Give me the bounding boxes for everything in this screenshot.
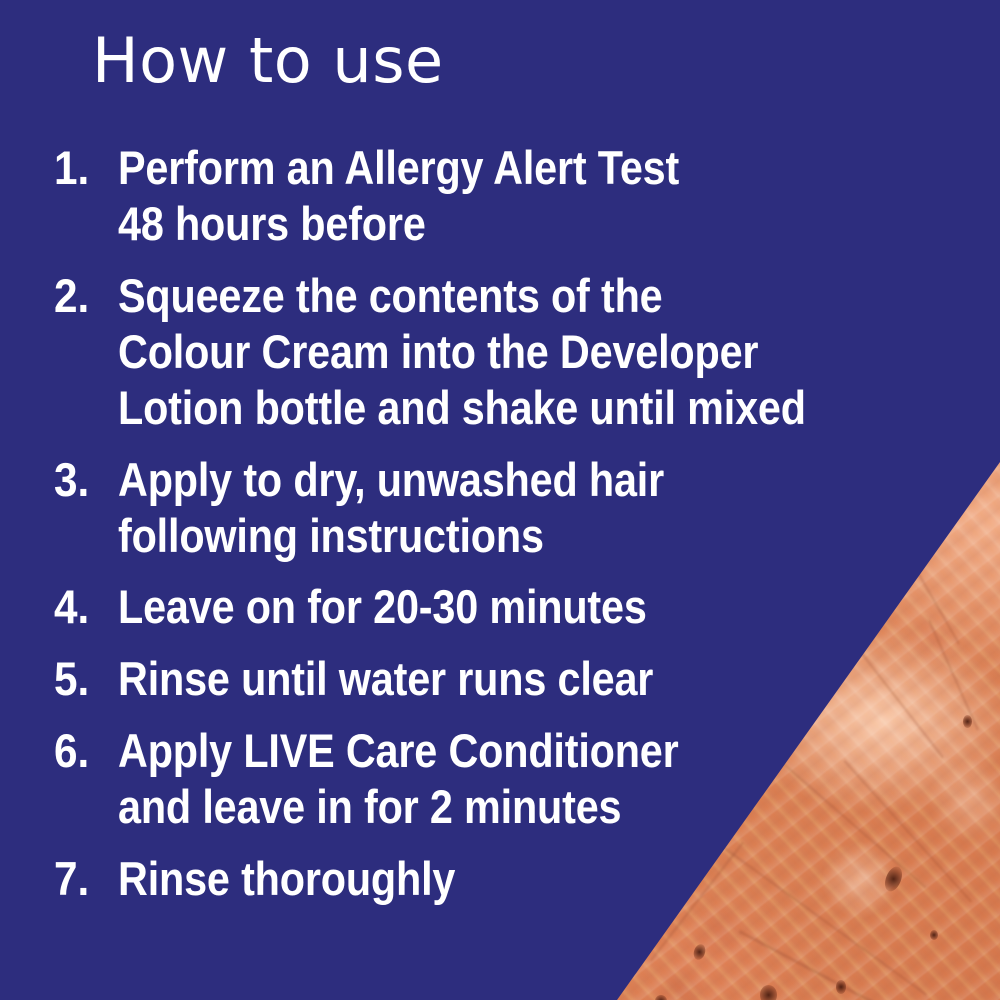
step-number: 6. xyxy=(54,723,112,779)
step-number: 7. xyxy=(54,851,112,907)
step-text: Leave on for 20-30 minutes xyxy=(118,579,894,635)
how-to-use-panel: How to use 1. Perform an Allergy Alert T… xyxy=(0,0,1000,1000)
list-item: 4. Leave on for 20-30 minutes xyxy=(0,579,1000,635)
list-item: 6. Apply LIVE Care Conditioner and leave… xyxy=(0,723,1000,835)
step-text: Apply LIVE Care Conditioner and leave in… xyxy=(118,723,894,835)
list-item: 3. Apply to dry, unwashed hair following… xyxy=(0,452,1000,564)
step-number: 4. xyxy=(54,579,112,635)
list-item: 5. Rinse until water runs clear xyxy=(0,651,1000,707)
page-title: How to use xyxy=(92,28,444,93)
step-number: 5. xyxy=(54,651,112,707)
list-item: 1. Perform an Allergy Alert Test 48 hour… xyxy=(0,140,1000,252)
step-text: Rinse thoroughly xyxy=(118,851,894,907)
skin-pore xyxy=(930,930,938,940)
step-text: Apply to dry, unwashed hair following in… xyxy=(118,452,894,564)
step-text: Rinse until water runs clear xyxy=(118,651,894,707)
step-text: Perform an Allergy Alert Test 48 hours b… xyxy=(118,140,894,252)
step-text: Squeeze the contents of the Colour Cream… xyxy=(118,268,894,436)
step-number: 2. xyxy=(54,268,112,324)
skin-pore xyxy=(655,995,667,1000)
skin-crease xyxy=(739,930,926,1000)
skin-pore xyxy=(692,943,707,962)
instruction-steps-list: 1. Perform an Allergy Alert Test 48 hour… xyxy=(0,140,1000,923)
list-item: 7. Rinse thoroughly xyxy=(0,851,1000,907)
skin-pore xyxy=(760,985,777,1000)
list-item: 2. Squeeze the contents of the Colour Cr… xyxy=(0,268,1000,436)
skin-pore xyxy=(836,980,846,994)
step-number: 1. xyxy=(54,140,112,196)
step-number: 3. xyxy=(54,452,112,508)
